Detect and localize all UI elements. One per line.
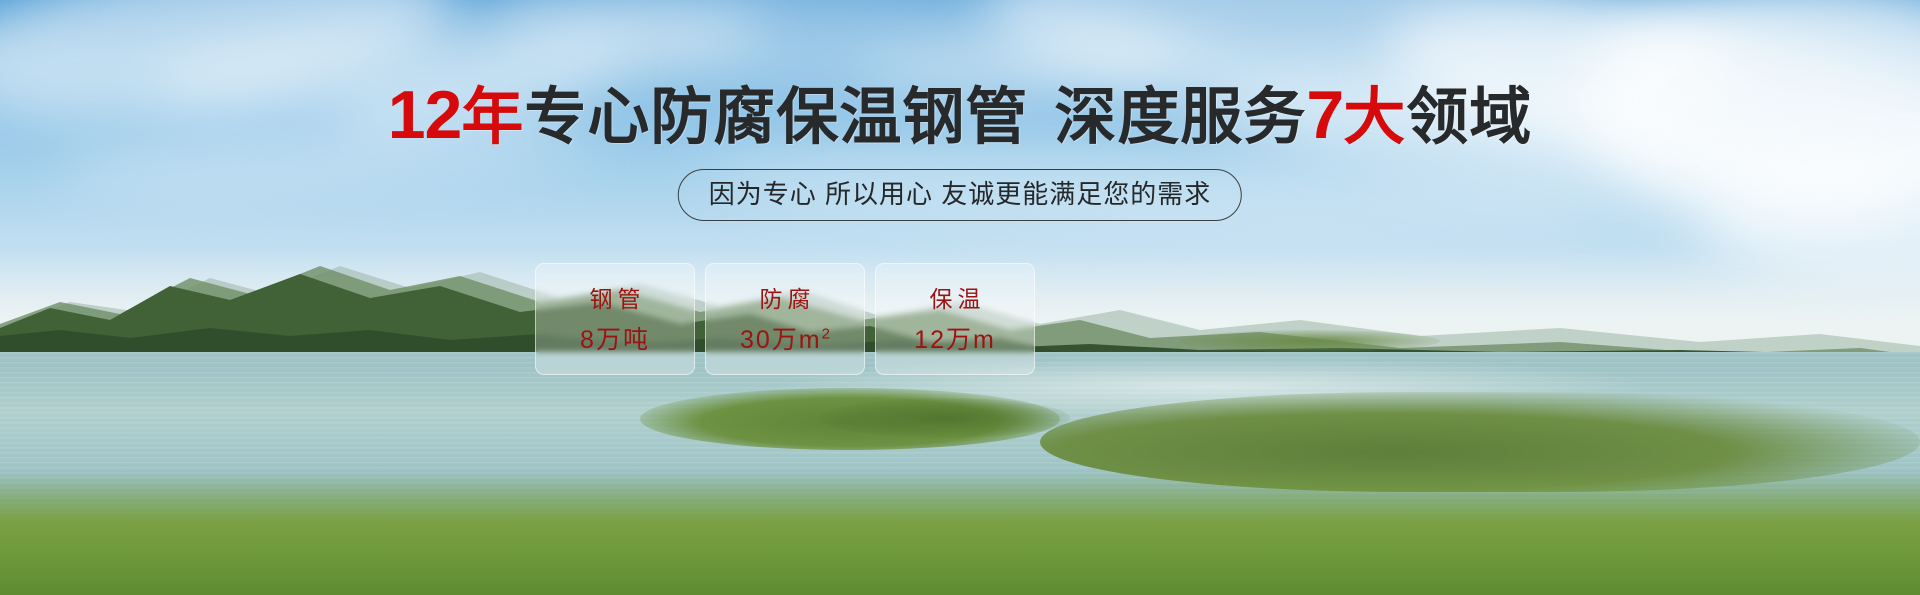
- headline-main-text: 专心防腐保温钢管: [524, 87, 1028, 149]
- headline-highlight-unit: 大: [1343, 87, 1406, 149]
- stat-card-value-text: 12万m: [914, 326, 996, 354]
- distant-islet: [1180, 330, 1440, 352]
- headline: 12年专心防腐保温钢管深度服务7大领域: [0, 84, 1920, 149]
- stat-card: 钢管 8万吨: [535, 263, 695, 375]
- stat-card-value-superscript: 2: [822, 326, 830, 343]
- hero-banner: 12年专心防腐保温钢管深度服务7大领域 因为专心 所以用心 友诚更能满足您的需求…: [0, 0, 1920, 595]
- stat-card-value-text: 8万吨: [580, 326, 650, 354]
- stat-card-value: 12万m: [914, 326, 996, 354]
- stat-card-title: 钢管: [585, 284, 646, 314]
- stat-card-value: 8万吨: [580, 326, 650, 354]
- headline-highlight-number: 7: [1306, 84, 1343, 146]
- stat-card-value: 30万m2: [740, 326, 830, 354]
- stat-card-title: 保温: [925, 284, 986, 314]
- foreground-grass: [0, 470, 1920, 595]
- stat-card: 保温 12万m: [875, 263, 1035, 375]
- headline-service-text: 深度服务: [1054, 87, 1306, 149]
- headline-tail-text: 领域: [1406, 87, 1532, 149]
- stat-card: 防腐 30万m2: [705, 263, 865, 375]
- headline-years-number: 12: [388, 84, 462, 146]
- grass-island-shadow: [820, 398, 1070, 438]
- subtitle-pill: 因为专心 所以用心 友诚更能满足您的需求: [678, 169, 1242, 221]
- stat-card-value-text: 30万m: [740, 326, 822, 354]
- headline-years-unit: 年: [461, 87, 524, 149]
- stat-card-title: 防腐: [755, 284, 816, 314]
- stat-card-group: 钢管 8万吨 防腐 30万m2 保温 12万m: [535, 263, 1035, 375]
